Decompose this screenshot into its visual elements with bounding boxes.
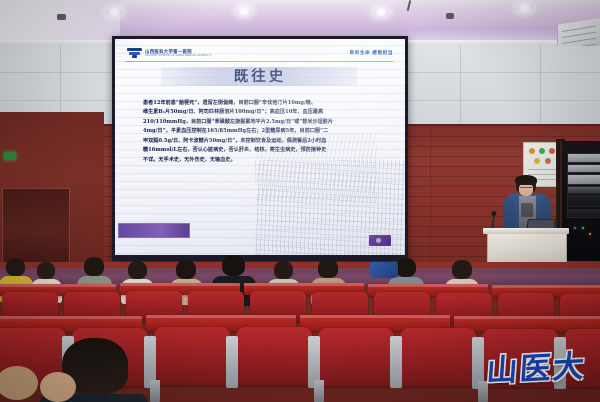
slide-header-tagline: 聆听生命 感悟担当	[350, 50, 393, 56]
auditorium-seat-front	[236, 327, 312, 385]
hospital-name-en: THE FIRST HOSPITAL OF SHANXI MEDICAL UNI…	[145, 55, 211, 57]
ceiling-downlight-1	[106, 8, 123, 16]
slide-body-line: 维生素B₁片50mg/日、阿司匹林肠溶片100mg/日”；高血压10年，血压最高	[143, 110, 379, 115]
audience-member-foreground	[0, 366, 38, 400]
slide-title: 既往史	[115, 65, 405, 86]
blue-backpack-on-desk	[370, 262, 398, 278]
ceiling-downlight-3	[373, 8, 389, 16]
hospital-logo: 山西医科大学第一医院 THE FIRST HOSPITAL OF SHANXI …	[127, 48, 211, 58]
header-rule	[125, 61, 393, 62]
ceiling-speaker-1	[57, 14, 66, 20]
ceiling-speaker-2	[446, 13, 454, 19]
rack-led-amber	[589, 233, 591, 235]
presenter-shirt-graphic	[521, 203, 533, 217]
rack-led-green	[582, 227, 584, 229]
slide-body-line: 患者12年前患“脑梗死”，遗留左侧偏瘫，目前口服“辛伐他汀片10mg/晚、	[143, 101, 379, 106]
watermark-logo: 山医大	[485, 340, 588, 390]
auditorium-seat-front	[400, 328, 476, 386]
screen-purple-reflection-band	[118, 223, 190, 238]
podium-top-surface	[483, 228, 569, 234]
slide-footer-logo	[369, 235, 391, 246]
auditorium-seat-front	[318, 328, 394, 386]
seat-leg	[314, 380, 324, 402]
hospital-logo-mark	[127, 48, 142, 58]
screen-moire-pattern-secondary	[257, 133, 377, 203]
seat-leg	[150, 380, 160, 402]
seat-armrest	[390, 336, 402, 388]
presenter-glasses	[520, 187, 532, 191]
auditorium-seat-front	[154, 327, 230, 385]
lecture-hall-photo: 山西医科大学第一医院 THE FIRST HOSPITAL OF SHANXI …	[0, 0, 600, 402]
audience-member-foreground	[40, 372, 76, 402]
slide-body-line: 210/110mmHg，目前口服“苯磺酸左旋氨氯地平片2.5mg/日”或“替米沙…	[143, 120, 379, 125]
ceiling-downlight-2	[236, 7, 252, 15]
emergency-exit-sign	[4, 152, 16, 160]
ceiling-downlight-4	[516, 4, 533, 12]
seat-armrest	[226, 336, 238, 388]
presenter-hair	[515, 175, 537, 185]
projection-screen: 山西医科大学第一医院 THE FIRST HOSPITAL OF SHANXI …	[115, 39, 405, 255]
rack-led-blue	[574, 227, 576, 229]
